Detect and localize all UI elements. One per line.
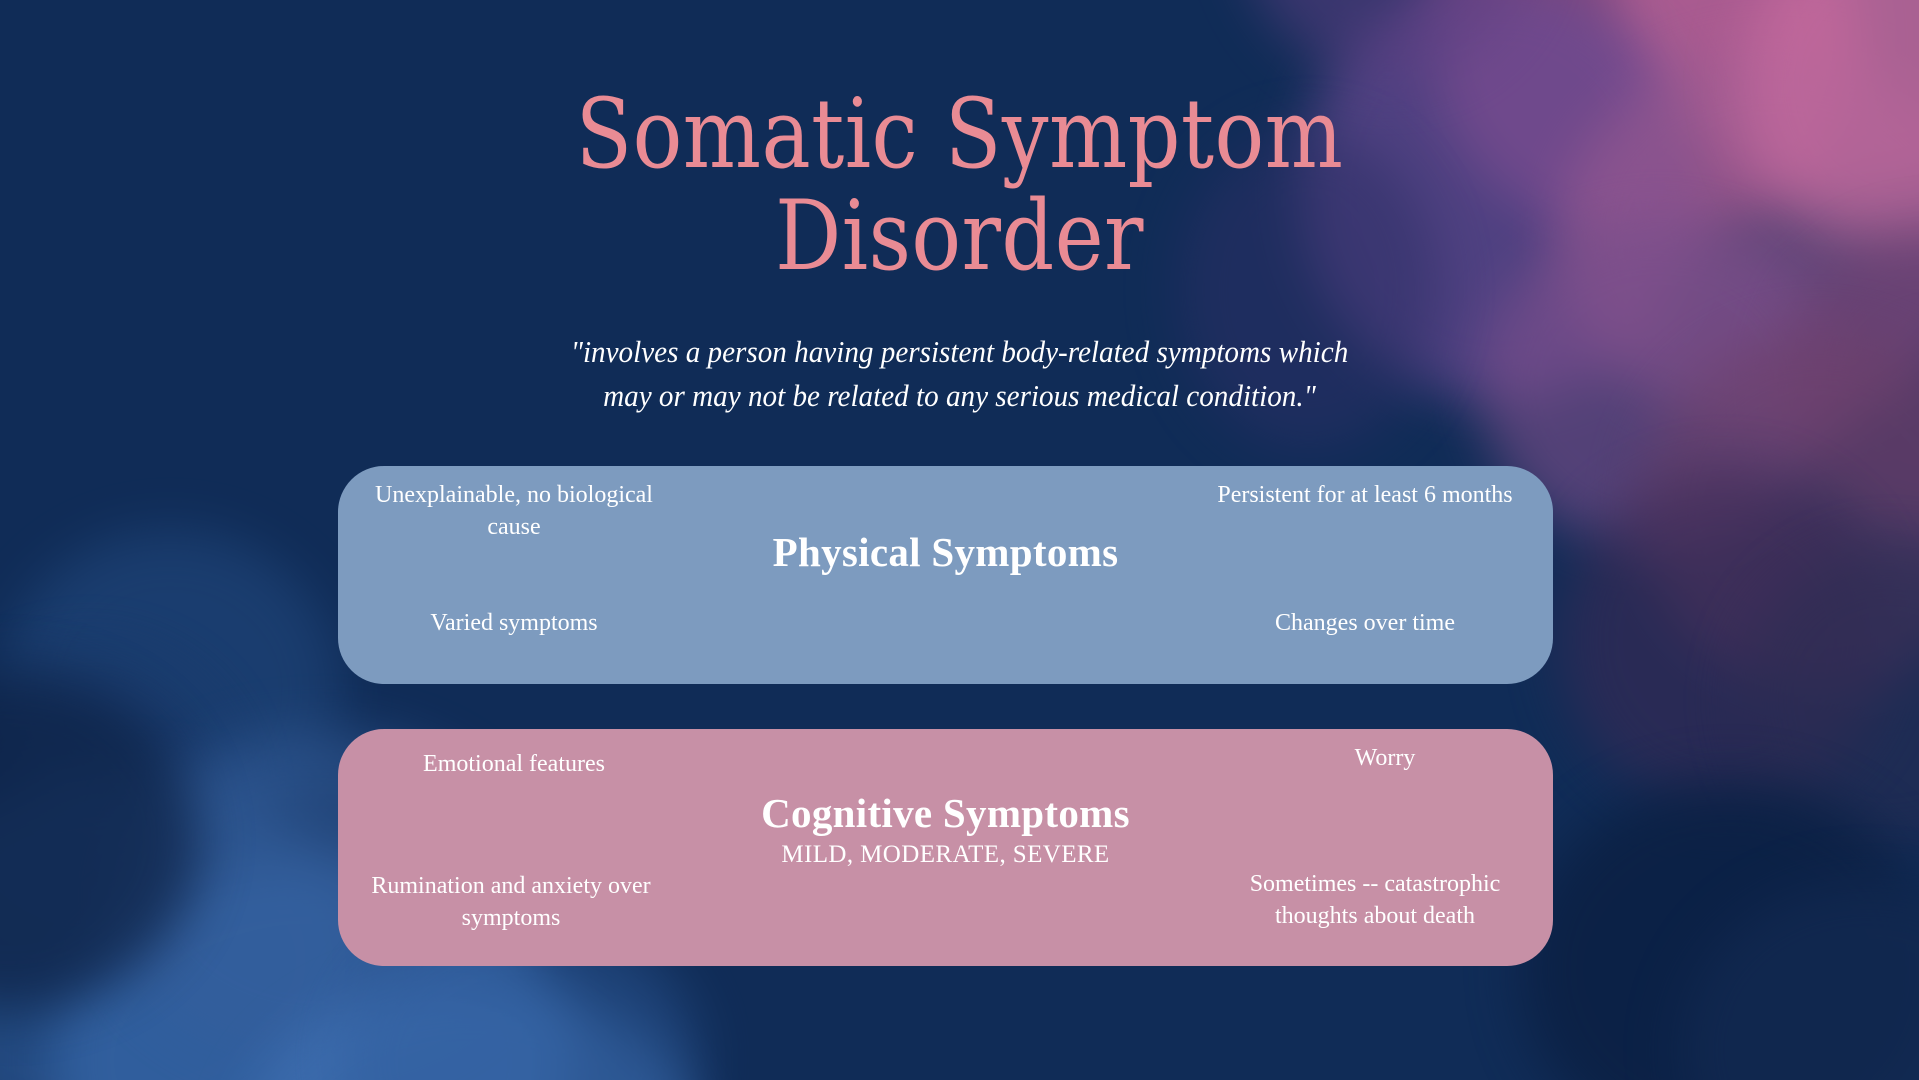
- subtitle-quote: "involves a person having persistent bod…: [58, 330, 1862, 418]
- slide-content: Somatic Symptom Disorder "involves a per…: [0, 0, 1919, 1080]
- tag-worry: Worry: [1235, 743, 1535, 775]
- subtitle-line-1: "involves a person having persistent bod…: [58, 330, 1862, 374]
- card-cognitive-severity-scale: MILD, MODERATE, SEVERE: [338, 841, 1553, 869]
- tag-varied-symptoms: Varied symptoms: [364, 608, 664, 640]
- tag-catastrophic-thoughts: Sometimes -- catastrophic thoughts about…: [1215, 869, 1535, 932]
- card-cognitive-title: Cognitive Symptoms: [338, 789, 1553, 837]
- tag-rumination-and-anxiety: Rumination and anxiety over symptoms: [356, 871, 666, 934]
- slide-canvas: Somatic Symptom Disorder "involves a per…: [0, 0, 1919, 1080]
- tag-changes-over-time: Changes over time: [1195, 608, 1535, 640]
- tag-persistent-six-months: Persistent for at least 6 months: [1195, 480, 1535, 512]
- page-title-line-2: Disorder: [134, 186, 1784, 288]
- subtitle-line-2: may or may not be related to any serious…: [58, 374, 1862, 418]
- card-physical-symptoms: Unexplainable, no biological cause Persi…: [338, 466, 1553, 684]
- page-title-line-1: Somatic Symptom: [134, 84, 1784, 186]
- page-title: Somatic Symptom Disorder: [134, 84, 1784, 288]
- card-physical-title: Physical Symptoms: [338, 528, 1553, 576]
- tag-emotional-features: Emotional features: [364, 749, 664, 781]
- card-cognitive-symptoms: Emotional features Worry Cognitive Sympt…: [338, 729, 1553, 966]
